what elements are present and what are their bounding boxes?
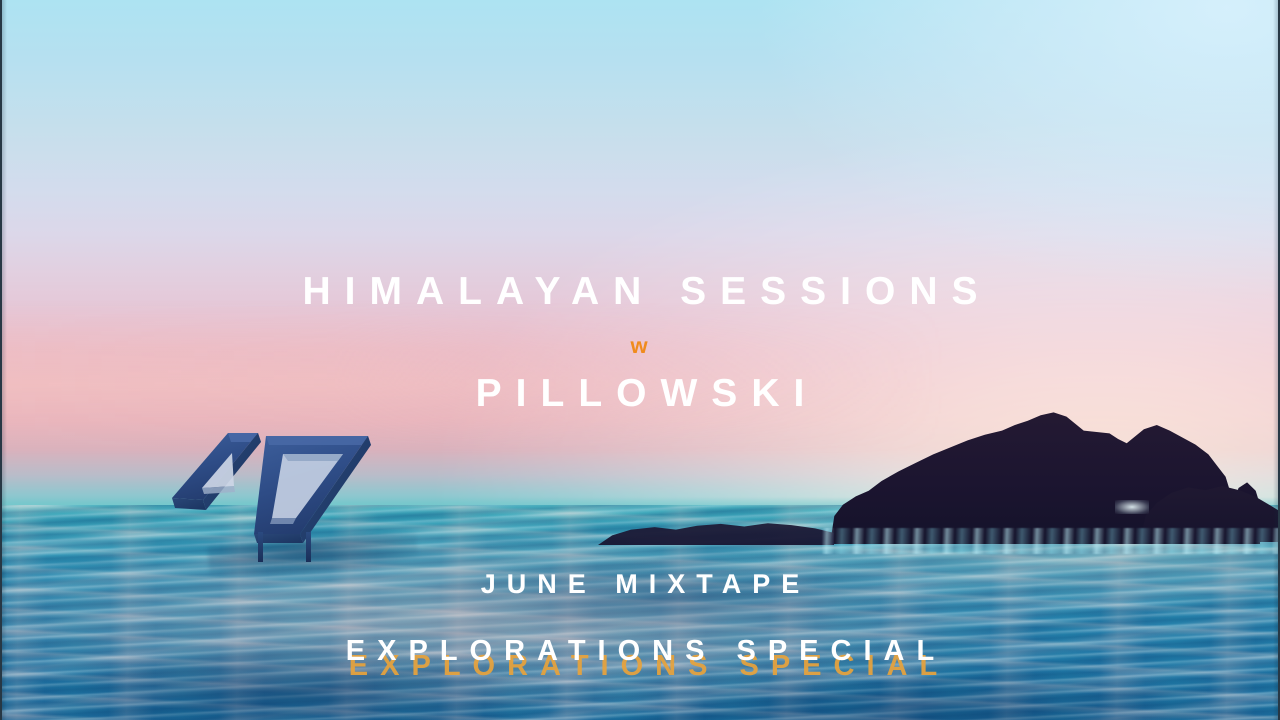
video-frame: HIMALAYAN SESSIONS w PILLOWSKI JUNE MIXT… [0,0,1280,720]
frame-edge-shading [2,0,1278,720]
